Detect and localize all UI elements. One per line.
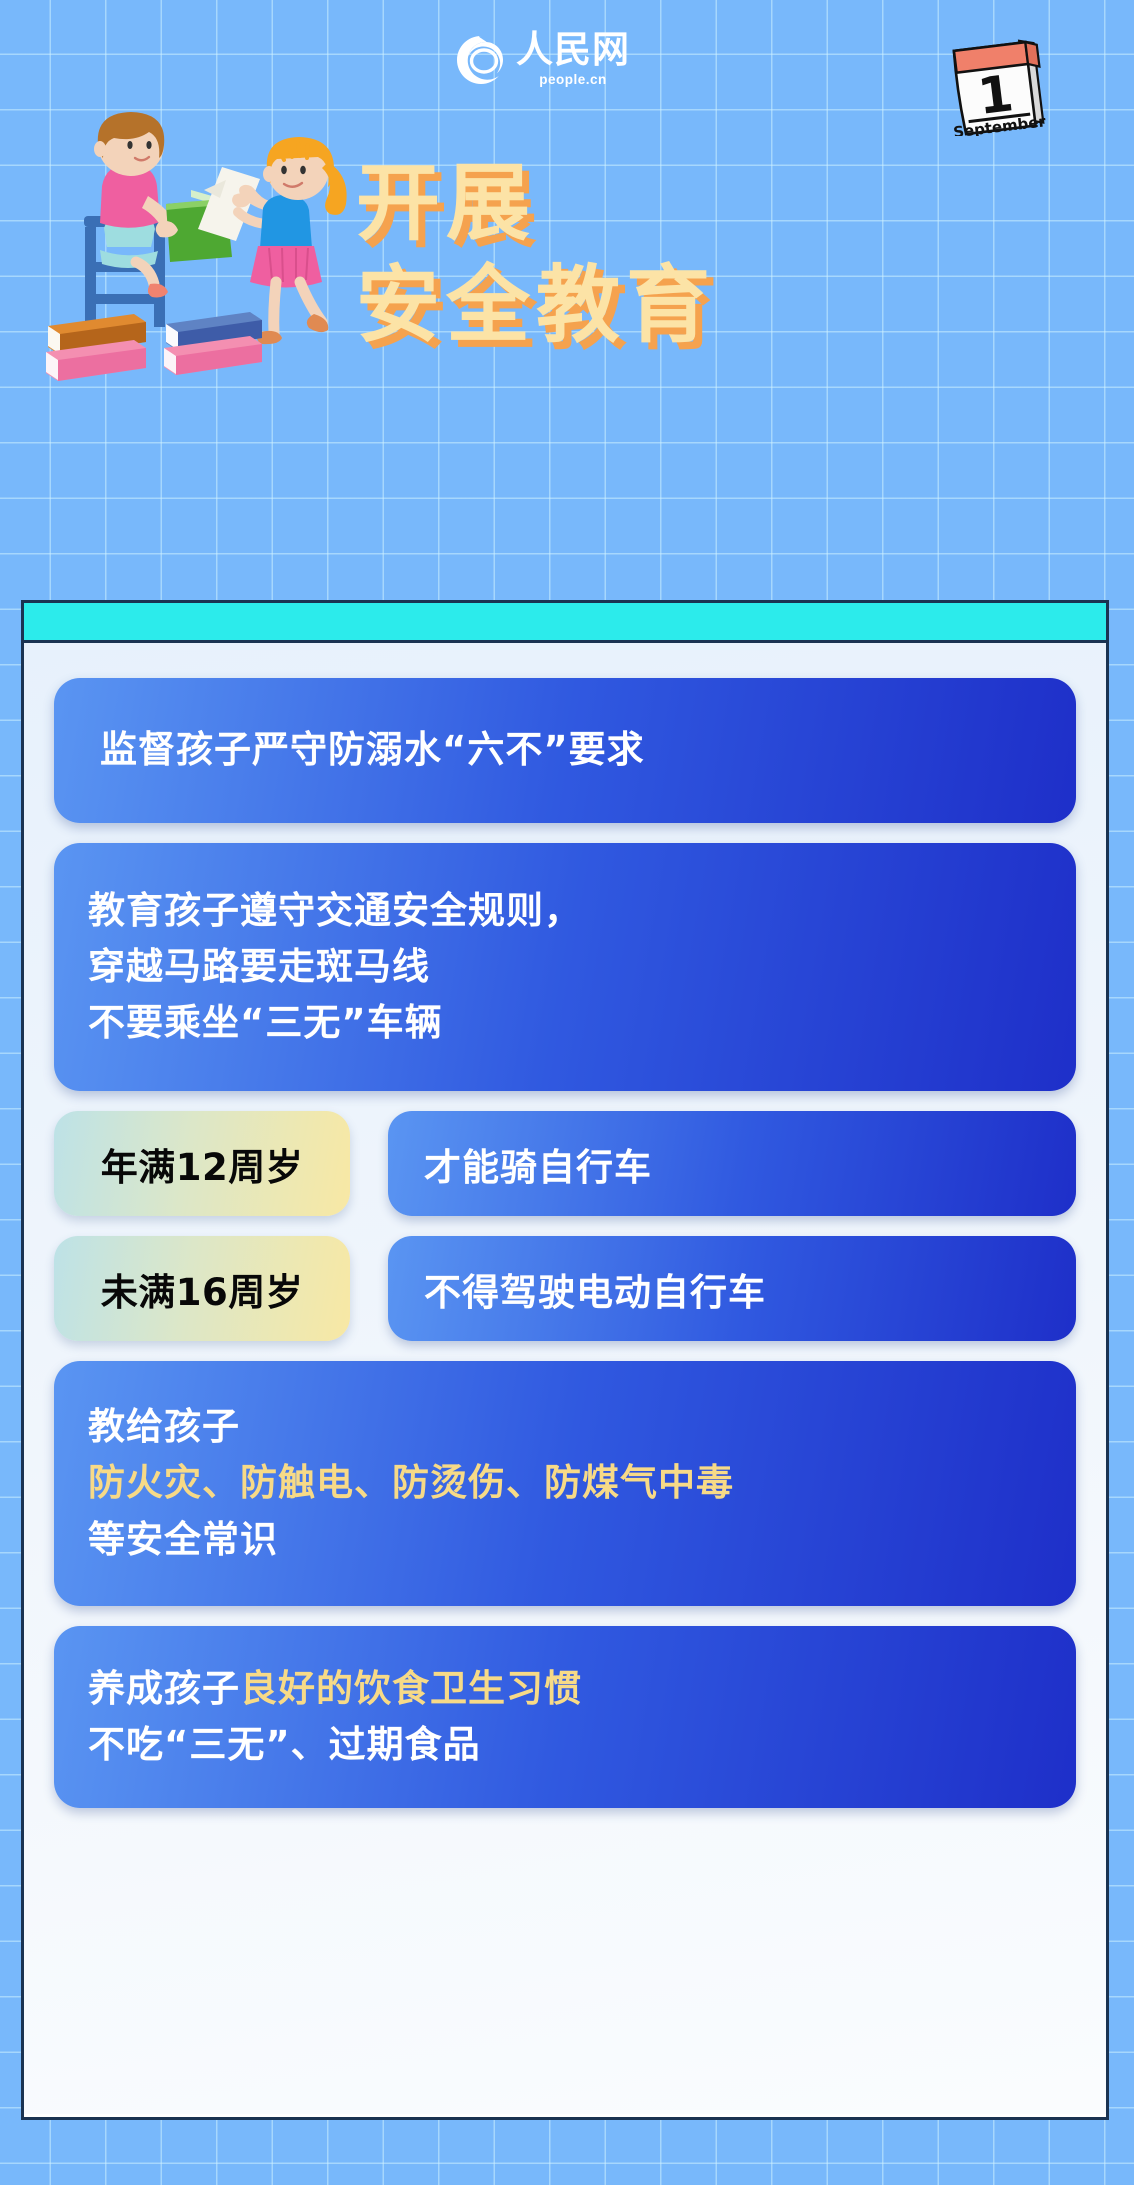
children-reading-books-illustration <box>26 112 386 402</box>
panel-body: 监督孩子严守防溺水“六不”要求 教育孩子遵守交通安全规则， 穿越马路要走斑马线 … <box>24 643 1106 2114</box>
logo-english-text: people.cn <box>539 72 607 87</box>
people-cn-globe-logo <box>455 34 507 86</box>
row-ebike-rule-label: 不得驾驶电动自行车 <box>424 1262 766 1316</box>
row-ebike-age-label: 未满16周岁 <box>101 1262 304 1316</box>
content-panel: 监督孩子严守防溺水“六不”要求 教育孩子遵守交通安全规则， 穿越马路要走斑马线 … <box>21 600 1109 2120</box>
page-title-line-1: 开展 <box>356 152 776 254</box>
row-ebike: 未满16周岁 不得驾驶电动自行车 <box>54 1236 1076 1341</box>
card-food-line-2: 不吃“三无”、过期食品 <box>88 1717 1042 1773</box>
card-hazards-line-3: 等安全常识 <box>88 1512 1042 1568</box>
row-bicycle-rule-label: 才能骑自行车 <box>424 1137 652 1191</box>
card-drowning: 监督孩子严守防溺水“六不”要求 <box>54 678 1076 823</box>
row-ebike-rule-pill: 不得驾驶电动自行车 <box>388 1236 1076 1341</box>
row-bicycle-age-pill: 年满12周岁 <box>54 1111 350 1216</box>
row-bicycle-age-label: 年满12周岁 <box>101 1137 304 1191</box>
card-traffic-line-1: 教育孩子遵守交通安全规则， <box>88 883 1042 939</box>
page-title-line-2: 安全教育 <box>356 254 776 356</box>
card-food-line-1-plain: 养成孩子 <box>88 1667 240 1710</box>
card-food-line-1: 养成孩子良好的饮食卫生习惯 <box>88 1661 1042 1717</box>
people-cn-logo: 人民网 people.cn <box>455 32 630 87</box>
card-food: 养成孩子良好的饮食卫生习惯 不吃“三无”、过期食品 <box>54 1626 1076 1808</box>
row-bicycle-rule-pill: 才能骑自行车 <box>388 1111 1076 1216</box>
logo-chinese-text: 人民网 <box>516 32 630 69</box>
card-traffic-line-2: 穿越马路要走斑马线 <box>88 939 1042 995</box>
calendar-icon: 1 September <box>940 28 1052 136</box>
card-drowning-line-1: 监督孩子严守防溺水“六不”要求 <box>100 722 1042 778</box>
card-food-line-1-highlight: 良好的饮食卫生习惯 <box>240 1667 582 1710</box>
book-stack-right-shape <box>164 312 262 375</box>
panel-header-bar <box>24 603 1106 643</box>
card-hazards-line-2: 防火灾、防触电、防烫伤、防煤气中毒 <box>88 1455 1042 1511</box>
card-traffic-line-3: 不要乘坐“三无”车辆 <box>88 995 1042 1051</box>
row-bicycle: 年满12周岁 才能骑自行车 <box>54 1111 1076 1216</box>
card-hazards: 教给孩子 防火灾、防触电、防烫伤、防煤气中毒 等安全常识 <box>54 1361 1076 1606</box>
card-hazards-line-1: 教给孩子 <box>88 1399 1042 1455</box>
book-stack-left-shape <box>46 314 146 381</box>
card-traffic: 教育孩子遵守交通安全规则， 穿越马路要走斑马线 不要乘坐“三无”车辆 <box>54 843 1076 1091</box>
row-ebike-age-pill: 未满16周岁 <box>54 1236 350 1341</box>
page-title: 开展 安全教育 <box>356 152 776 357</box>
